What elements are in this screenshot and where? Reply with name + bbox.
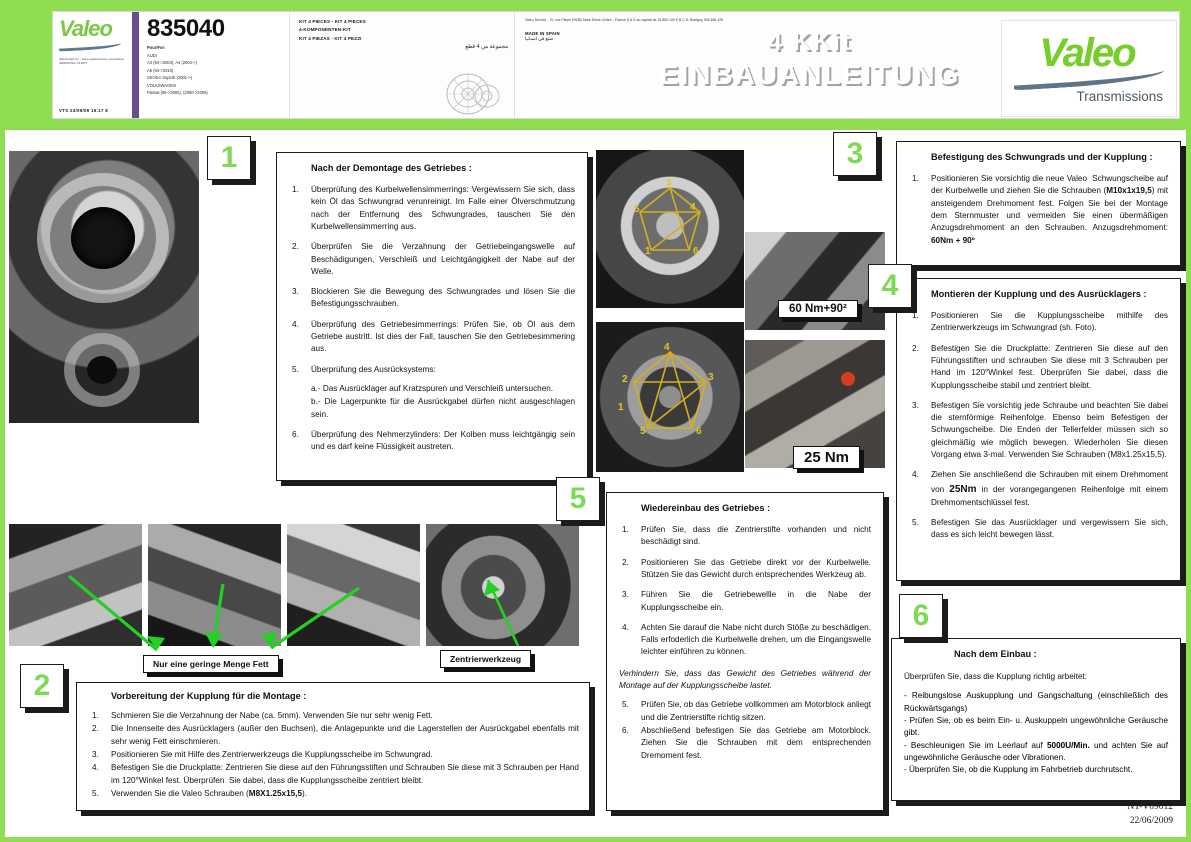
- list-item: Befestigen Sie die Druckplatte: Zentrier…: [89, 762, 579, 787]
- list-item: Überprüfung des Getriebesimmerrings: Prü…: [289, 319, 575, 356]
- grease-pointer-arrows: [9, 524, 429, 670]
- sub-item-b: b.- Die Lagerpunkte für die Ausrückgabel…: [311, 396, 575, 421]
- label-brand-column: Valeo distributed by : www.valeoservice.…: [53, 12, 132, 118]
- section-3-title: Befestigung des Schwungrads und der Kupp…: [909, 151, 1168, 164]
- section-4-box: Montieren der Kupplung und des Ausrückla…: [896, 278, 1181, 581]
- list-item: Positionieren Sie die Kupplungsscheibe m…: [909, 310, 1168, 335]
- section-5-steps: Prüfen Sie, dass die Zentrierstifte vorh…: [619, 524, 871, 659]
- list-item-text: Überprüfung des Ausrücksystems:: [311, 365, 436, 374]
- check-item: - Prüfen Sie, ob es beim Ein- u. Auskupp…: [904, 715, 1168, 740]
- label-application-item: A6 (94->2010): [147, 67, 285, 75]
- section-4-title: Montieren der Kupplung und des Ausrückla…: [909, 288, 1168, 301]
- footer-date: 22/06/2009: [1127, 815, 1173, 829]
- check-item: - Beschleunigen Sie im Leerlauf auf 5000…: [904, 740, 1168, 765]
- check-item: - Überprüfen Sie, ob die Kupplung im Fah…: [904, 764, 1168, 776]
- section-5-box: Wiedereinbau des Getriebes : Prüfen Sie,…: [606, 492, 884, 811]
- list-item: Verwenden Sie die Valeo Schrauben (M8X1.…: [89, 788, 579, 800]
- label-vts-code: VTS 23/09/09 15:17 8: [59, 108, 108, 113]
- list-item: Befestigen Sie das Ausrücklager und verg…: [909, 517, 1168, 542]
- svg-text:1: 1: [618, 402, 624, 413]
- page-edge-bottom: [0, 837, 1191, 842]
- label-application-item: VOLKSWAGEN: [147, 82, 285, 90]
- label-valeo-wordmark: Valeo: [59, 18, 127, 40]
- list-item: Positionieren Sie mit Hilfe des Zentrier…: [89, 749, 579, 761]
- section-2-title: Vorbereitung der Kupplung für die Montag…: [89, 690, 579, 703]
- section-1-title: Nach der Demontage des Getriebes :: [289, 162, 575, 175]
- section-6-box: Nach dem Einbau : Überprüfen Sie, dass d…: [891, 638, 1181, 801]
- torque-badge-flywheel: 60 Nm+90²: [778, 300, 858, 318]
- valeo-logo-subtitle: Transmissions: [1076, 89, 1163, 104]
- label-kit-column: KIT 4 PIECES - KIT 4 PIECES 4-KOMPONENTE…: [289, 12, 514, 118]
- list-item: Schmieren Sie die Verzahnung der Nabe (c…: [89, 710, 579, 722]
- instruction-sheet: Valeo distributed by : www.valeoservice.…: [0, 0, 1191, 842]
- list-item: Blockieren Sie die Bewegung des Schwungr…: [289, 286, 575, 311]
- section-badge-5: 5: [556, 477, 600, 521]
- label-reference-number: 835040: [147, 17, 285, 41]
- label-application-item: SKODA Superb (2001->): [147, 74, 285, 82]
- bolt-order-star-1: 34 615: [596, 150, 744, 308]
- page-edge-right: [1186, 130, 1191, 842]
- label-kit-line: KIT 4 PIECES - KIT 4 PIECES: [299, 18, 508, 26]
- svg-text:1: 1: [645, 246, 651, 257]
- list-item: Überprüfung des Nehmerzylinders: Der Kol…: [289, 429, 575, 454]
- list-item: Positionieren Sie vorsichtig die neue Va…: [909, 173, 1168, 247]
- svg-text:2: 2: [622, 374, 628, 385]
- label-application-item: A4 (94->2004), A4 (2004->): [147, 59, 285, 67]
- list-item: Prüfen Sie, ob das Getriebe vollkommen a…: [619, 699, 871, 724]
- label-kit-es-it: KIT 4 PIEZAS - KIT 4 PEZZI: [299, 35, 508, 43]
- section-1-steps: Überprüfung des Kurbelwellensimmerrings:…: [289, 184, 575, 453]
- caption-centering-tool: Zentrierwerkzeug: [440, 650, 531, 668]
- list-item: Befestigen Sie die Druckplatte: Zentrier…: [909, 343, 1168, 392]
- section-badge-1: 1: [207, 136, 251, 180]
- list-item: Führen Sie die Getriebewellle in die Nab…: [619, 589, 871, 614]
- list-item: Prüfen Sie, dass die Zentrierstifte vorh…: [619, 524, 871, 549]
- section-badge-2: 2: [20, 664, 64, 708]
- section-3-steps: Positionieren Sie vorsichtig die neue Va…: [909, 173, 1168, 247]
- label-purple-stripe: [132, 12, 139, 118]
- svg-text:3: 3: [708, 372, 714, 383]
- svg-text:4: 4: [690, 202, 696, 213]
- check-item: - Reibungslose Auskupplung und Gangschal…: [904, 690, 1168, 715]
- list-item: Achten Sie darauf die Nabe nicht durch S…: [619, 622, 871, 659]
- list-item: Überprüfen Sie die Verzahnung der Getrie…: [289, 241, 575, 278]
- list-item: Ziehen Sie anschließend die Schrauben mi…: [909, 469, 1168, 509]
- label-swoosh-icon: [59, 39, 121, 51]
- label-kit-arabic: مجموعة من 4 قطع: [299, 44, 508, 50]
- section-1-box: Nach der Demontage des Getriebes : Überp…: [276, 152, 588, 481]
- svg-text:4: 4: [664, 342, 670, 353]
- label-kit-de: 4-KOMPONENTEN-KIT: [299, 26, 508, 34]
- list-item: Abschließend befestigen Sie das Getriebe…: [619, 725, 871, 762]
- section-3-box: Befestigung des Schwungrads und der Kupp…: [896, 141, 1181, 266]
- section-2-steps: Schmieren Sie die Verzahnung der Nabe (c…: [89, 710, 579, 800]
- label-application-item: Passat (96->2005), (2000->2005): [147, 89, 285, 97]
- section-5-steps-after: Prüfen Sie, ob das Getriebe vollkommen a…: [619, 699, 871, 761]
- footer-doc-code: NT-V09012: [1127, 801, 1173, 815]
- svg-text:5: 5: [634, 204, 640, 215]
- svg-text:5: 5: [640, 426, 646, 437]
- label-distributor-note: distributed by : www.valeoservice.com/sh…: [59, 57, 127, 66]
- label-kit-fr: KIT 4 PIECES - KIT 4 PIECES: [299, 19, 366, 24]
- section-6-intro: Überprüfen Sie, dass die Kupplung richti…: [904, 671, 1168, 683]
- clutch-kit-illustration-icon: [438, 70, 502, 116]
- label-reference-column: 835040 Pour/For: AUDI A4 (94->2004), A4 …: [139, 12, 289, 118]
- torque-badge-pressure-plate: 25 Nm: [793, 446, 860, 469]
- sub-item-a: a.- Das Ausrücklager auf Kratzspuren und…: [311, 383, 575, 395]
- label-applications: Pour/For: AUDI A4 (94->2004), A4 (2004->…: [147, 44, 285, 97]
- list-item: Befestigen Sie vorsichtig jede Schraube …: [909, 400, 1168, 461]
- bolt-order-star-2: 43 65 21: [596, 322, 744, 472]
- list-item: Überprüfung des Ausrücksystems: a.- Das …: [289, 364, 575, 421]
- section-4-steps: Positionieren Sie die Kupplungsscheibe m…: [909, 310, 1168, 541]
- page-edge-left: [0, 130, 5, 842]
- list-item: Positionieren Sie das Getriebe direkt vo…: [619, 557, 871, 582]
- section-1-sublist: a.- Das Ausrücklager auf Kratzspuren und…: [311, 383, 575, 421]
- section-badge-3: 3: [833, 132, 877, 176]
- section-badge-4: 4: [868, 264, 912, 308]
- photo-gearbox-removed: [9, 151, 199, 423]
- svg-text:3: 3: [666, 178, 672, 189]
- section-2-box: Vorbereitung der Kupplung für die Montag…: [76, 682, 590, 811]
- label-application-item: AUDI: [147, 52, 285, 60]
- footer: NT-V09012 22/06/2009: [1127, 801, 1173, 829]
- svg-text:6: 6: [696, 426, 702, 437]
- section-6-checks: - Reibungslose Auskupplung und Gangschal…: [904, 690, 1168, 776]
- valeo-wordmark: Valeo: [1039, 34, 1134, 72]
- section-badge-6: 6: [899, 594, 943, 638]
- section-5-title: Wiedereinbau des Getriebes :: [619, 502, 871, 515]
- label-applications-header: Pour/For:: [147, 44, 285, 52]
- centering-tool-pointer-arrow: [426, 524, 579, 664]
- section-6-title: Nach dem Einbau :: [904, 648, 1168, 661]
- valeo-transmissions-logo: Valeo Transmissions: [1001, 20, 1177, 117]
- svg-text:6: 6: [693, 246, 699, 257]
- list-item: Die Innenseite des Ausrücklagers (außer …: [89, 723, 579, 748]
- section-5-warning-note: Verhindern Sie, dass das Gewicht des Get…: [619, 668, 871, 693]
- list-item: Überprüfung des Kurbelwellensimmerrings:…: [289, 184, 575, 233]
- caption-grease: Nur eine geringe Menge Fett: [143, 655, 279, 673]
